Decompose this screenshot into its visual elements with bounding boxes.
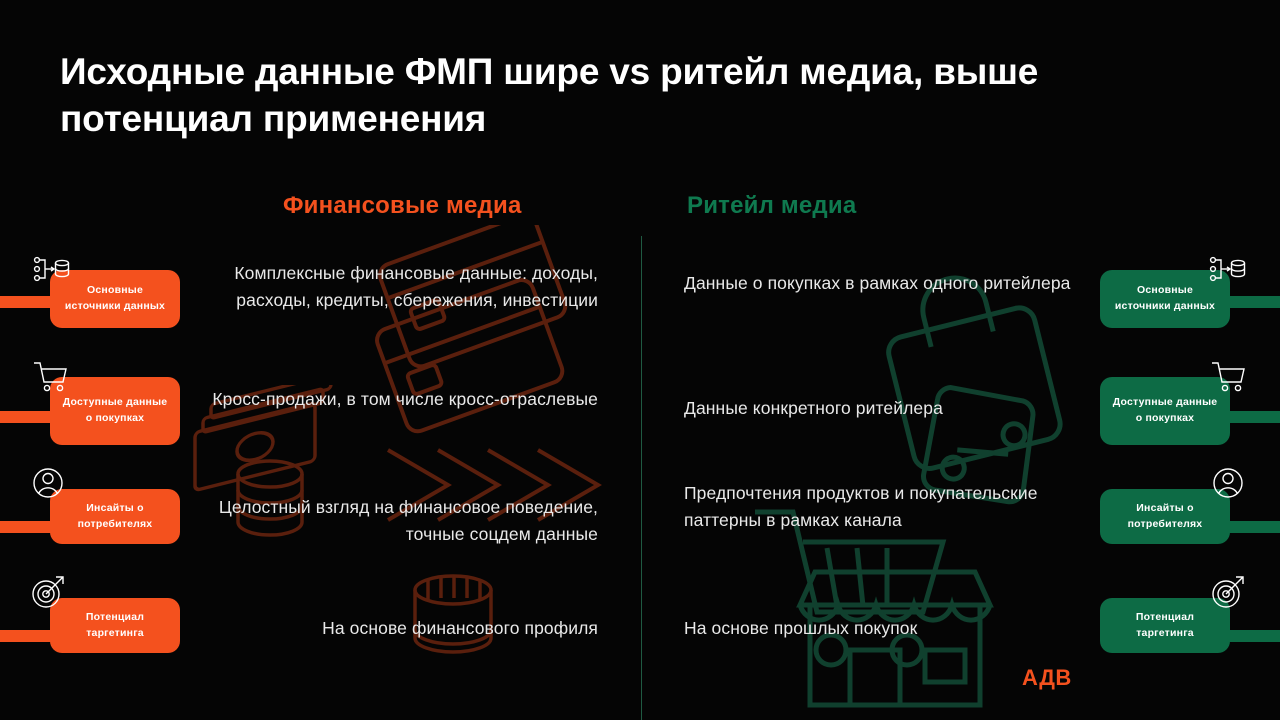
row-text-financial-2: Кросс-продажи, в том числе кросс-отрасле… xyxy=(200,386,598,413)
database-icon-right xyxy=(1208,252,1248,292)
column-divider xyxy=(641,236,642,720)
user-circle-icon-right xyxy=(1208,463,1248,503)
target-arrow-icon xyxy=(28,572,68,612)
row-text-retail-4: На основе прошлых покупок xyxy=(684,615,1074,642)
row-text-retail-2: Данные конкретного ритейлера xyxy=(684,395,1074,422)
row-text-financial-3: Целостный взгляд на финансовое поведение… xyxy=(200,494,598,548)
column-header-financial: Финансовые медиа xyxy=(283,192,522,220)
badge-right-3-label: Инсайты о потребителях xyxy=(1108,501,1222,533)
badge-right-2-label: Доступные данные о покупках xyxy=(1108,395,1222,427)
badge-left-1-label: Основные источники данных xyxy=(58,283,172,315)
badge-left-4-label: Потенциал таргетинга xyxy=(58,610,172,642)
badge-left-4[interactable]: Потенциал таргетинга xyxy=(50,598,180,653)
slide-root: Исходные данные ФМП шире vs ритейл медиа… xyxy=(0,0,1280,720)
row-text-financial-4: На основе финансового профиля xyxy=(200,615,598,642)
shopping-cart-icon-right xyxy=(1208,358,1248,398)
badge-left-3[interactable]: Инсайты о потребителях xyxy=(50,489,180,544)
badge-left-3-label: Инсайты о потребителях xyxy=(58,501,172,533)
badge-left-2-label: Доступные данные о покупках xyxy=(58,395,172,427)
row-text-retail-1: Данные о покупках в рамках одного ритейл… xyxy=(684,270,1074,297)
user-circle-icon xyxy=(28,463,68,503)
badge-right-1-label: Основные источники данных xyxy=(1108,283,1222,315)
adv-logo: АДВ xyxy=(1022,665,1072,691)
page-title: Исходные данные ФМП шире vs ритейл медиа… xyxy=(60,48,1220,143)
column-header-retail: Ритейл медиа xyxy=(687,192,856,220)
target-arrow-icon-right xyxy=(1208,572,1248,612)
row-text-financial-1: Комплексные финансовые данные: доходы, р… xyxy=(200,260,598,314)
database-icon xyxy=(32,252,72,292)
row-text-retail-3: Предпочтения продуктов и покупательские … xyxy=(684,480,1074,534)
badge-right-4-label: Потенциал таргетинга xyxy=(1108,610,1222,642)
shopping-cart-icon xyxy=(30,358,70,398)
